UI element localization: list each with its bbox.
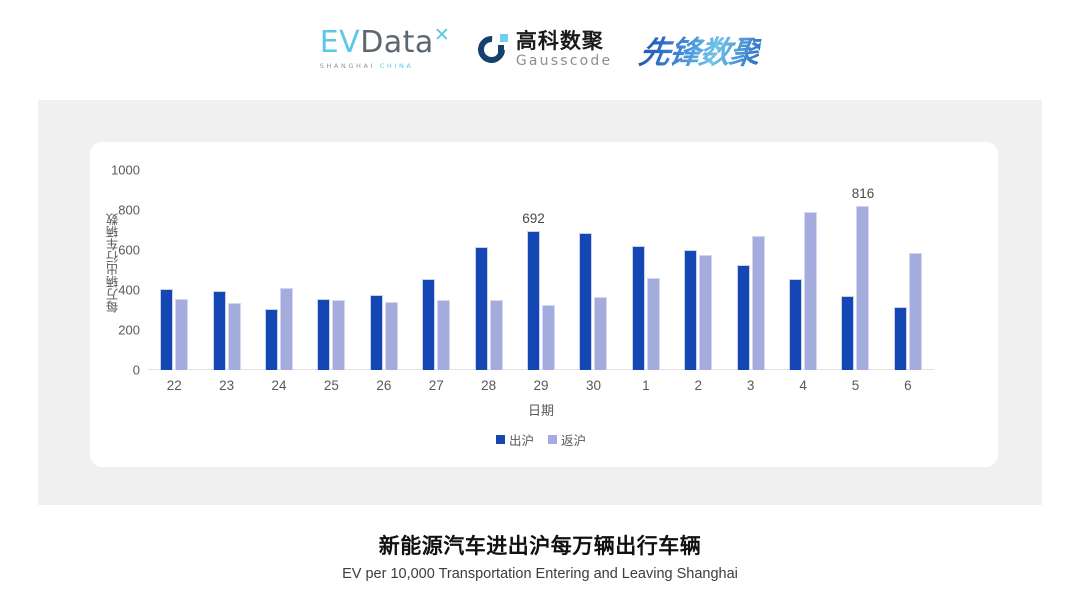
bar-ret <box>699 255 712 370</box>
evdata-tagline-country: CHINA <box>380 62 414 70</box>
bar-group: 692 <box>515 170 567 370</box>
legend-swatch <box>548 435 557 444</box>
bar-out <box>579 233 592 370</box>
bar-group: 816 <box>829 170 881 370</box>
x-axis-tick: 4 <box>777 378 829 398</box>
bar-ret <box>542 305 555 370</box>
x-axis-tick: 24 <box>253 378 305 398</box>
evdata-logo: EVData ✕ SHANGHAI CHINA <box>320 28 450 70</box>
bar-group <box>567 170 619 370</box>
y-axis-tick: 200 <box>118 323 140 338</box>
gausscode-name-en: Gausscode <box>516 54 612 68</box>
bar-groups: 692816 <box>148 170 934 370</box>
chart-panel: 每万辆出行车辆数 02004006008001000 692816 222324… <box>38 100 1042 505</box>
bar-out: 692 <box>527 231 540 370</box>
bar-ret <box>647 278 660 370</box>
bar-ret <box>804 212 817 370</box>
x-axis-tick: 2 <box>672 378 724 398</box>
bar-ret: 816 <box>856 206 869 370</box>
y-axis-label: 每万辆出行车辆数 <box>104 198 122 328</box>
x-axis-tick: 25 <box>305 378 357 398</box>
bar-ret <box>490 300 503 370</box>
evdata-cross-icon: ✕ <box>434 26 450 45</box>
bar-group <box>305 170 357 370</box>
gausscode-name-cn: 高科数聚 <box>516 31 612 52</box>
legend-swatch <box>496 435 505 444</box>
x-axis-tick: 29 <box>515 378 567 398</box>
bar-group <box>253 170 305 370</box>
bar-group <box>200 170 252 370</box>
legend-label: 返沪 <box>561 430 586 449</box>
bar-ret <box>437 300 450 370</box>
x-axis-tick: 5 <box>829 378 881 398</box>
bar-out <box>632 246 645 370</box>
legend-item[interactable]: 出沪 <box>496 430 534 449</box>
bar-ret <box>752 236 765 370</box>
bar-value-label: 816 <box>852 186 875 201</box>
bar-out <box>160 289 173 370</box>
gausscode-mark-icon <box>478 34 509 65</box>
bar-ret <box>594 297 607 370</box>
y-axis-tick: 800 <box>118 203 140 218</box>
bar-group <box>672 170 724 370</box>
x-axis-tick: 23 <box>200 378 252 398</box>
bar-out <box>370 295 383 370</box>
x-axis-tick: 3 <box>724 378 776 398</box>
chart-legend: 出沪返沪 <box>148 430 934 449</box>
bar-chart: 每万辆出行车辆数 02004006008001000 692816 222324… <box>90 142 998 467</box>
bar-out <box>894 307 907 370</box>
chart-card: 每万辆出行车辆数 02004006008001000 692816 222324… <box>90 142 998 467</box>
evdata-wordmark: EVData <box>320 28 434 58</box>
x-axis-tick: 6 <box>882 378 934 398</box>
bar-group <box>777 170 829 370</box>
x-axis-label: 日期 <box>148 400 934 419</box>
bar-out <box>841 296 854 370</box>
bar-group <box>462 170 514 370</box>
bar-out <box>684 250 697 370</box>
bar-out <box>737 265 750 370</box>
bar-ret <box>385 302 398 370</box>
y-axis-tick: 0 <box>133 363 140 378</box>
bar-group <box>358 170 410 370</box>
bar-ret <box>175 299 188 370</box>
legend-label: 出沪 <box>509 430 534 449</box>
evdata-word-ev: EV <box>320 25 360 60</box>
caption-chinese: 新能源汽车进出沪每万辆出行车辆 <box>0 530 1080 560</box>
bar-ret <box>909 253 922 370</box>
bar-value-label: 692 <box>522 211 545 226</box>
evdata-word-data: Data <box>360 25 434 60</box>
bar-ret <box>332 300 345 370</box>
bar-group <box>882 170 934 370</box>
y-axis-tick: 400 <box>118 283 140 298</box>
bar-out <box>213 291 226 370</box>
x-axis-tick: 26 <box>358 378 410 398</box>
evdata-tagline: SHANGHAI CHINA <box>320 62 414 70</box>
bar-out <box>317 299 330 370</box>
y-axis-tick: 1000 <box>111 163 140 178</box>
plot-area: 02004006008001000 692816 <box>148 170 934 370</box>
x-axis-tick: 22 <box>148 378 200 398</box>
bar-group <box>148 170 200 370</box>
x-axis-tick: 1 <box>620 378 672 398</box>
xianfeng-logo: 先锋数聚 <box>637 27 764 72</box>
bar-out <box>265 309 278 370</box>
evdata-tagline-city: SHANGHAI <box>320 62 375 70</box>
bar-out <box>422 279 435 370</box>
x-axis-tick: 27 <box>410 378 462 398</box>
bar-group <box>620 170 672 370</box>
y-axis-tick: 600 <box>118 243 140 258</box>
bar-ret <box>280 288 293 370</box>
x-axis-ticks: 222324252627282930123456 <box>148 378 934 398</box>
legend-item[interactable]: 返沪 <box>548 430 586 449</box>
bar-group <box>724 170 776 370</box>
bar-ret <box>228 303 241 370</box>
logo-header: EVData ✕ SHANGHAI CHINA 高科数聚 Gausscode 先… <box>0 18 1080 80</box>
x-axis-tick: 28 <box>462 378 514 398</box>
bar-out <box>789 279 802 370</box>
caption-english: EV per 10,000 Transportation Entering an… <box>0 566 1080 582</box>
bar-group <box>410 170 462 370</box>
bar-out <box>475 247 488 370</box>
gausscode-logo: 高科数聚 Gausscode <box>478 31 612 68</box>
x-axis-tick: 30 <box>567 378 619 398</box>
